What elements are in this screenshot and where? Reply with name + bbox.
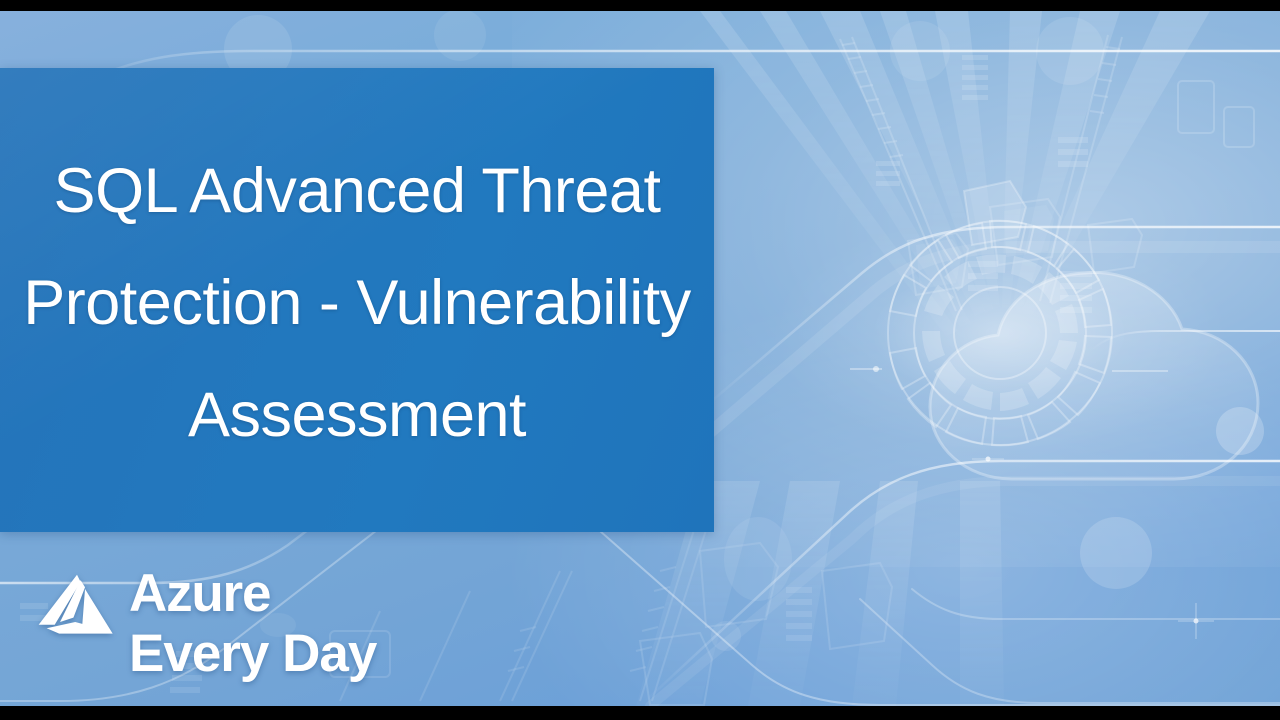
azure-logo-icon [34,573,120,639]
page-title: SQL Advanced Threat Protection - Vulnera… [0,68,714,532]
title-line-3: Assessment [188,359,526,471]
brand-lockup: Azure Every Day [34,567,376,680]
brand-line-1: Azure [129,567,376,620]
letterbox-bottom [0,706,1280,720]
title-line-1: SQL Advanced Threat [54,135,661,247]
title-panel: SQL Advanced Threat Protection - Vulnera… [0,68,714,532]
brand-line-2: Every Day [129,627,376,680]
video-frame: SQL Advanced Threat Protection - Vulnera… [0,11,1280,706]
letterbox-top [0,0,1280,11]
video-title-card: SQL Advanced Threat Protection - Vulnera… [0,0,1280,720]
title-line-2: Protection - Vulnerability [23,247,690,359]
brand-wordmark: Azure Every Day [129,567,376,680]
